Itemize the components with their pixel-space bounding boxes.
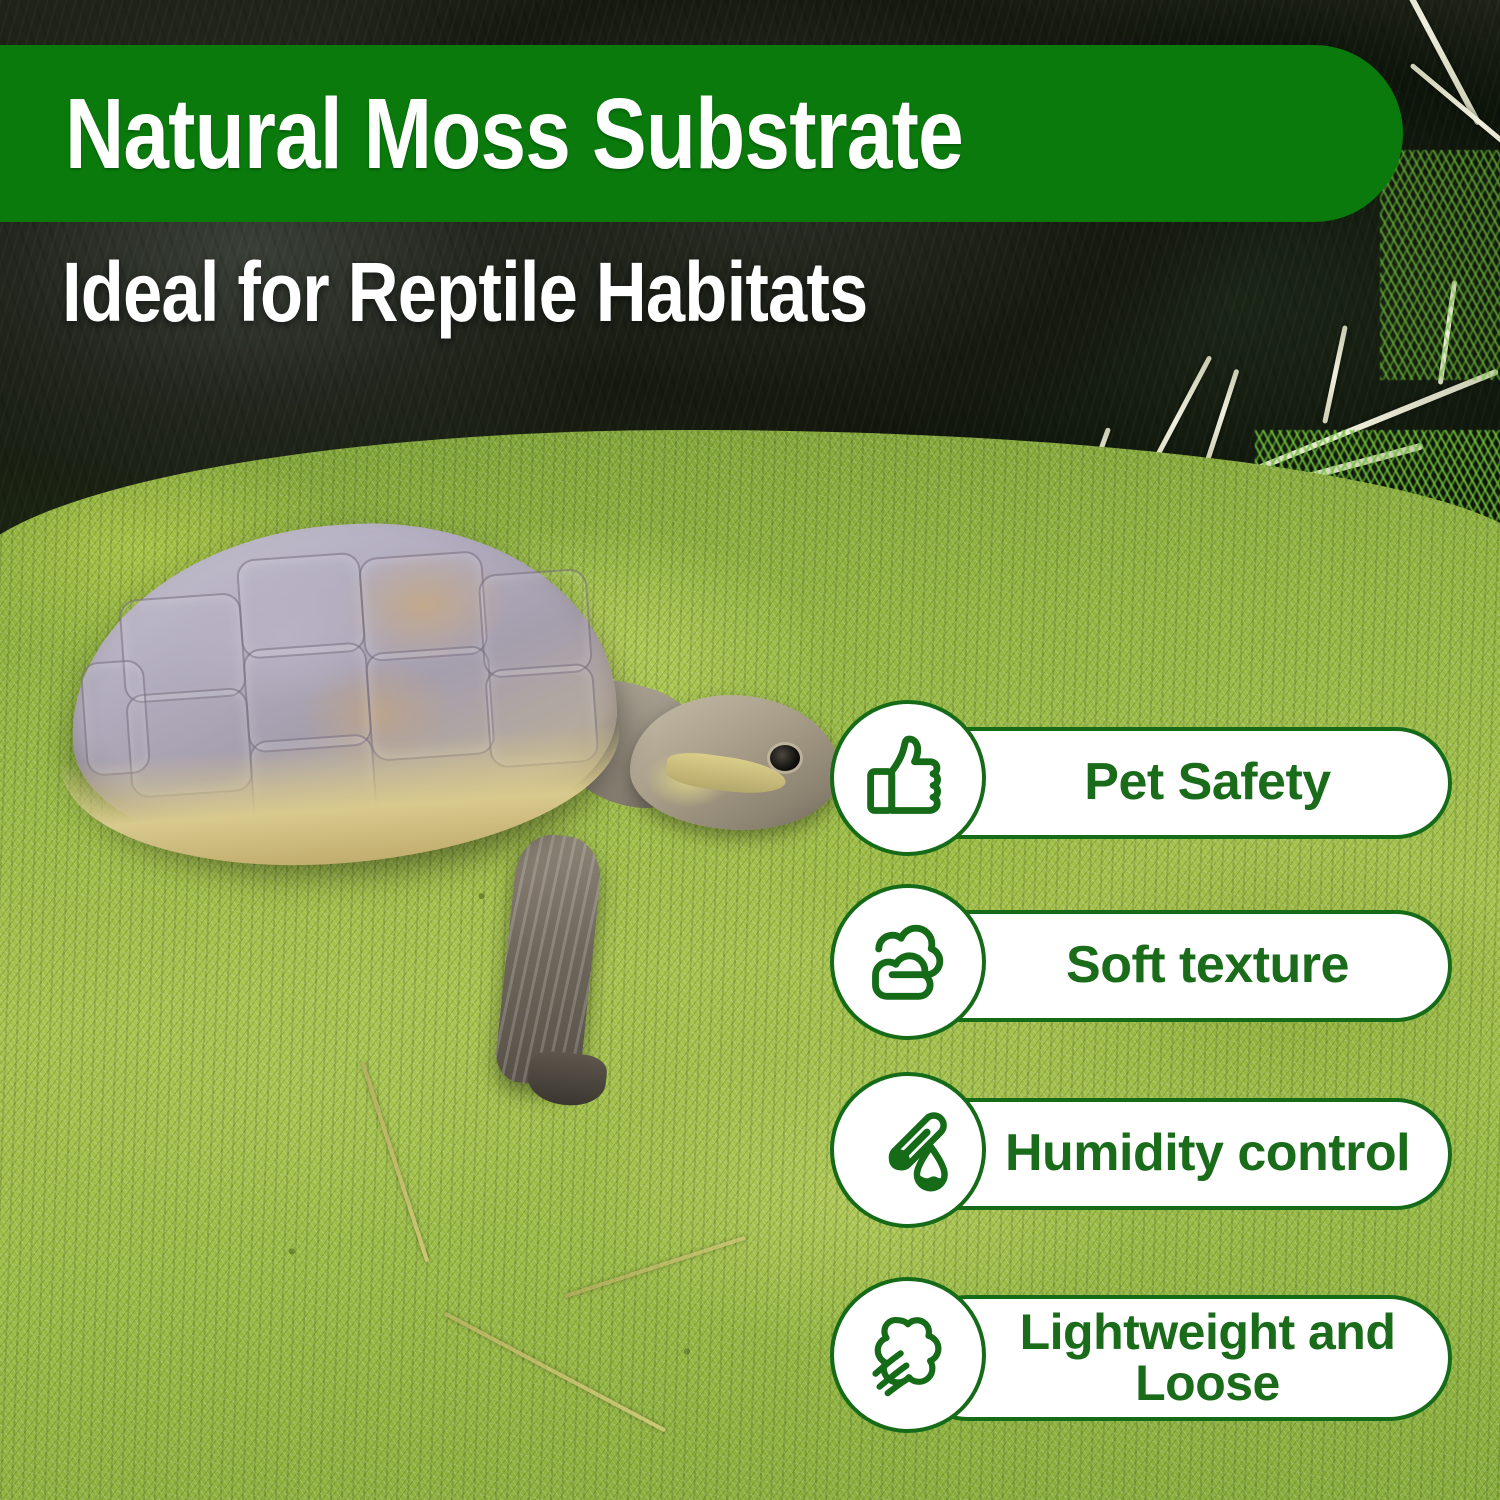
- thermometer-droplet-icon: [856, 1098, 960, 1202]
- feature-pill[interactable]: Humidity control: [905, 1098, 1452, 1210]
- feature-pill[interactable]: Soft texture: [905, 910, 1452, 1022]
- feature-label: Soft texture: [978, 939, 1379, 993]
- feature-pill[interactable]: Lightweight and Loose: [905, 1295, 1452, 1421]
- blowing-cloud-icon: [856, 1303, 960, 1407]
- thumbs-up-icon: [856, 726, 960, 830]
- feature-icon-badge: [830, 1277, 986, 1433]
- feature-icon-badge: [830, 884, 986, 1040]
- feature-label: Lightweight and Loose: [909, 1307, 1448, 1410]
- feature-pill[interactable]: Pet Safety: [905, 727, 1452, 839]
- feature-label: Humidity control: [917, 1127, 1440, 1181]
- product-infographic: Natural Moss Substrate Ideal for Reptile…: [0, 0, 1500, 1500]
- feature-icon-badge: [830, 1072, 986, 1228]
- feature-icon-badge: [830, 700, 986, 856]
- feature-label: Pet Safety: [996, 756, 1360, 810]
- cloud-icon: [856, 910, 960, 1014]
- feature-list: Pet Safety Soft texture: [0, 0, 1500, 1500]
